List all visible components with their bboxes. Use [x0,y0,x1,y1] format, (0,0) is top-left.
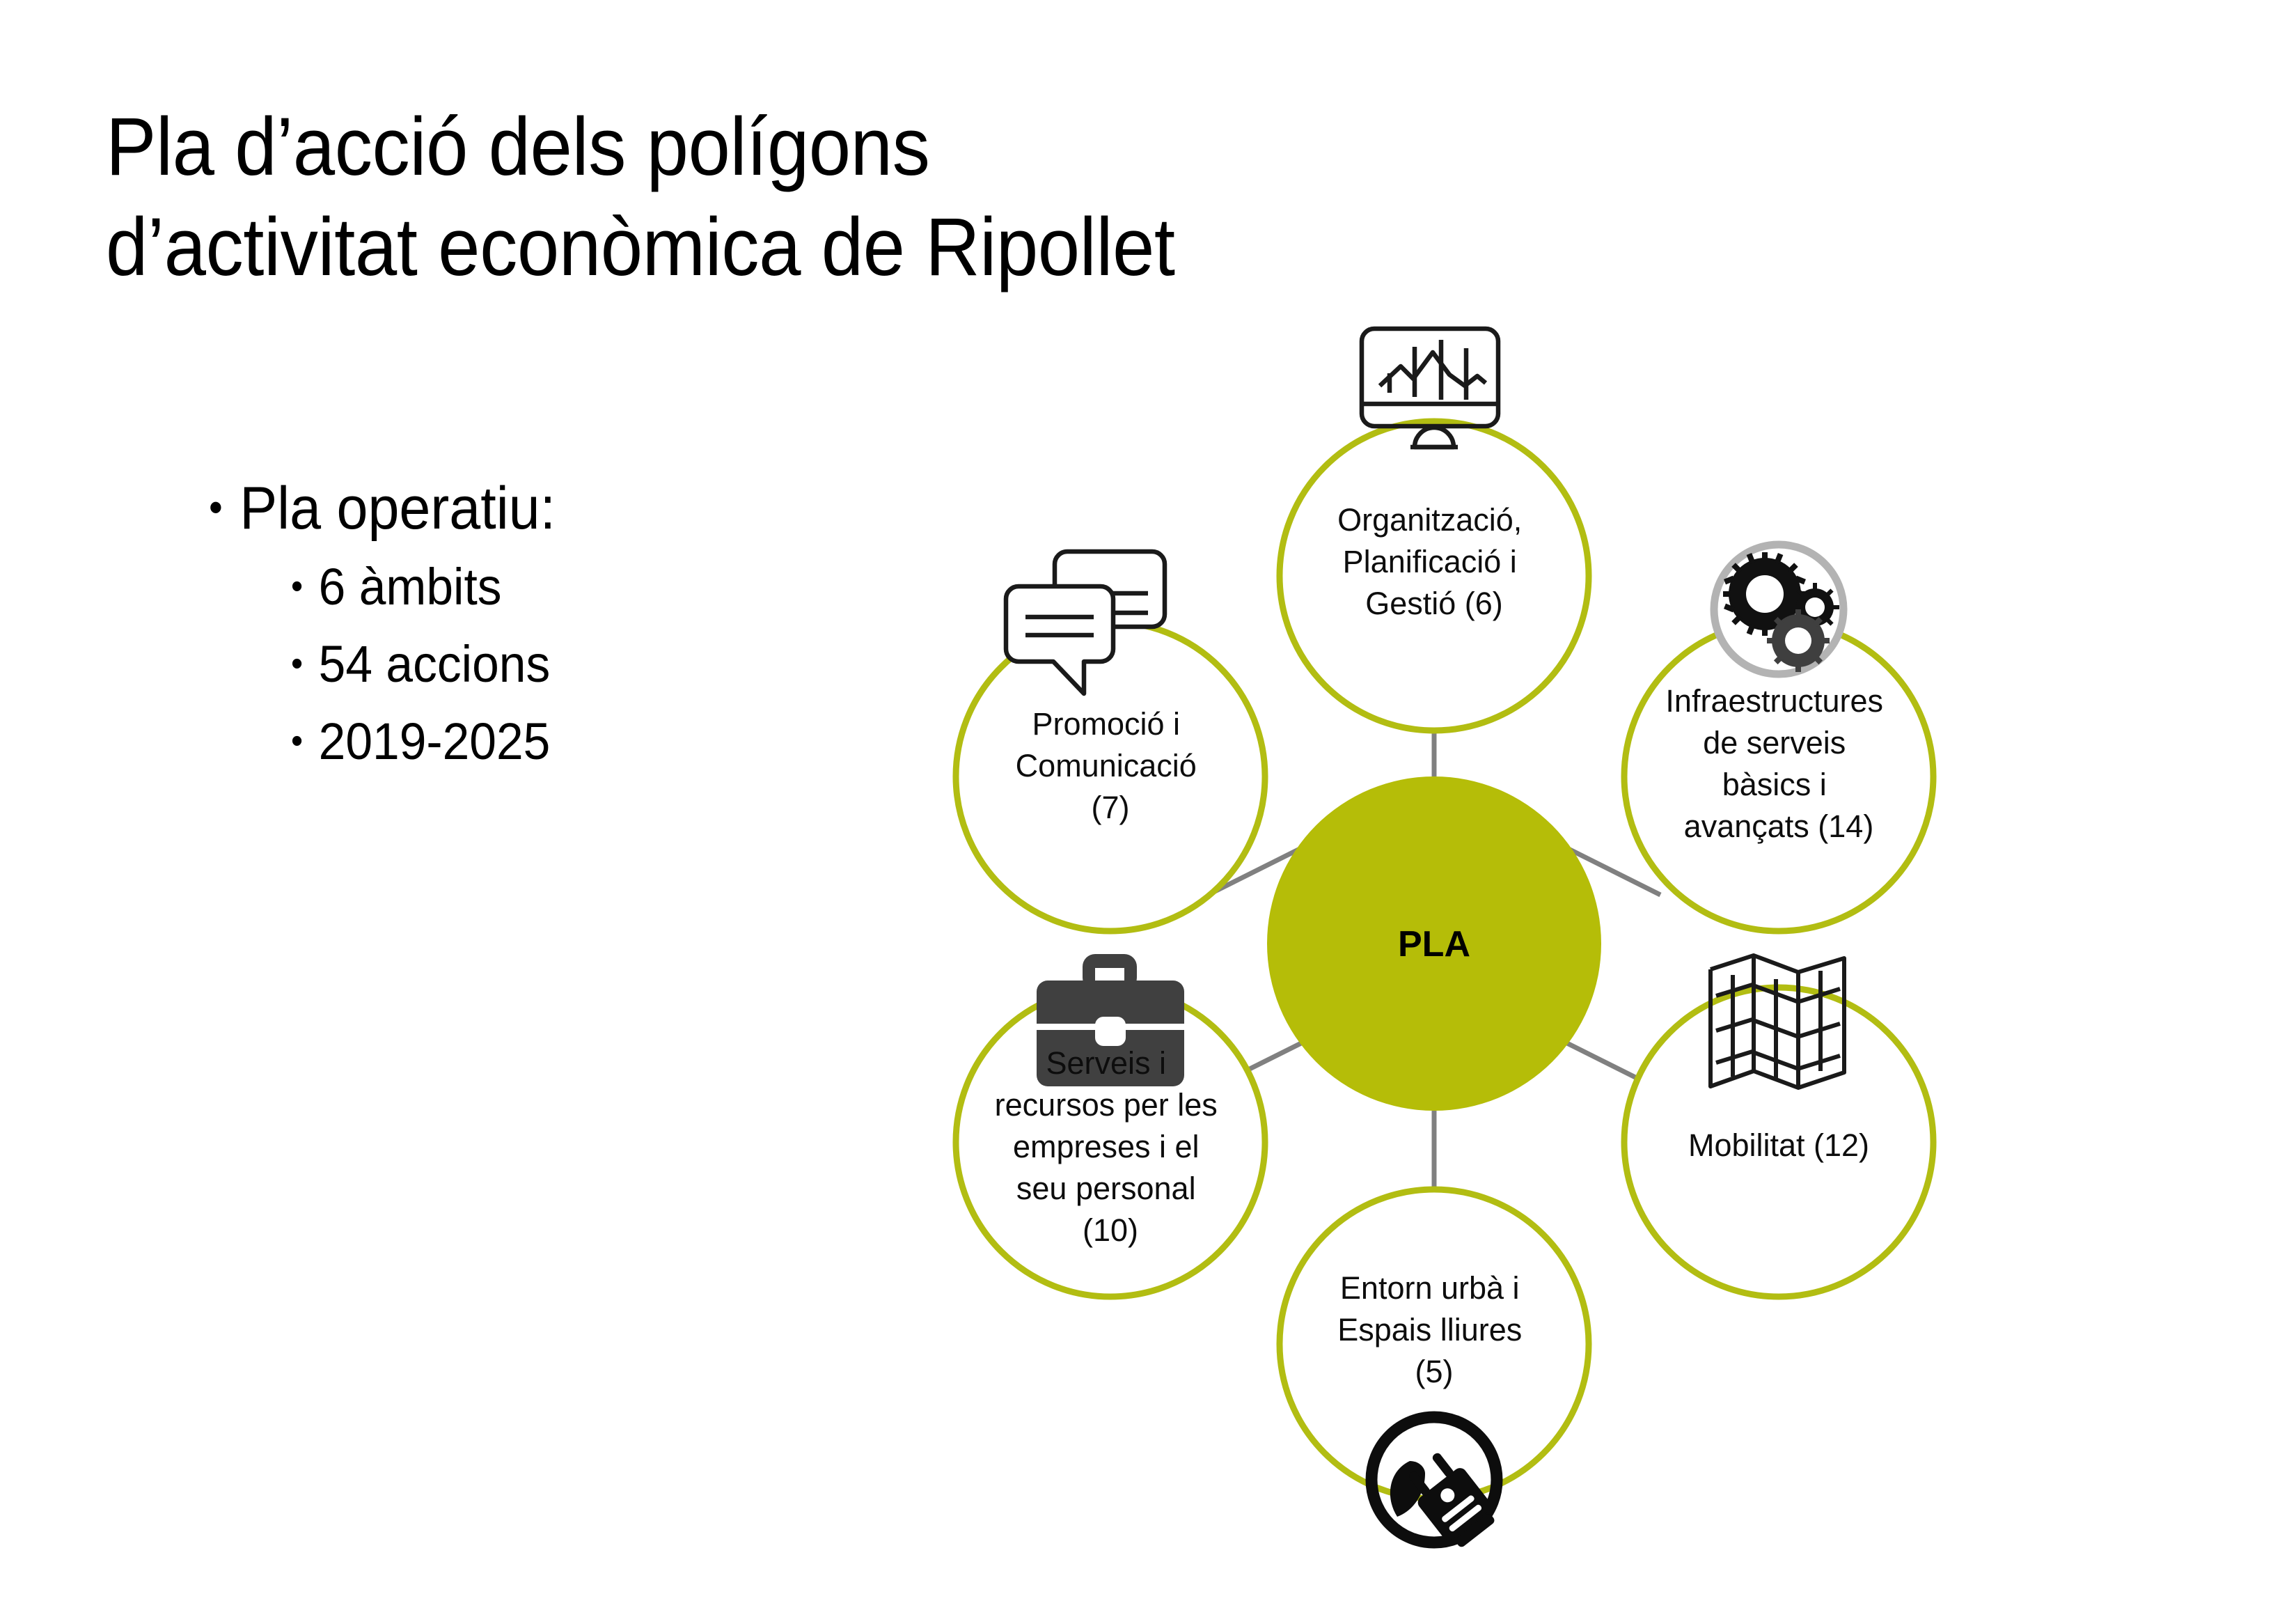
node-infraestructures[interactable]: Infraestructures de serveis bàsics i ava… [1624,545,1933,931]
node-entorn-urba[interactable]: Entorn urbà i Espais lliures (5) [1280,1189,1589,1553]
node-organitzacio[interactable]: Organització, Planificació i Gestió (6) [1280,329,1589,731]
center-node-pla[interactable]: PLA [1267,776,1601,1111]
node-promocio[interactable]: Promoció i Comunicació (7) [956,552,1265,931]
node-label: Mobilitat (12) [1688,1127,1869,1163]
node-label: Organització, Planificació i Gestió (6) [1337,502,1531,621]
slide-canvas: Pla d’acció dels polígons d’activitat ec… [0,0,2296,1617]
center-label: PLA [1398,924,1470,964]
gears-icon [1714,545,1843,674]
node-mobilitat[interactable]: Mobilitat (12) [1624,955,1933,1297]
cycle-diagram: Organització, Planificació i Gestió (6) [0,0,2296,1617]
node-serveis-recursos[interactable]: Serveis i recursos per les empreses i el… [956,954,1265,1297]
